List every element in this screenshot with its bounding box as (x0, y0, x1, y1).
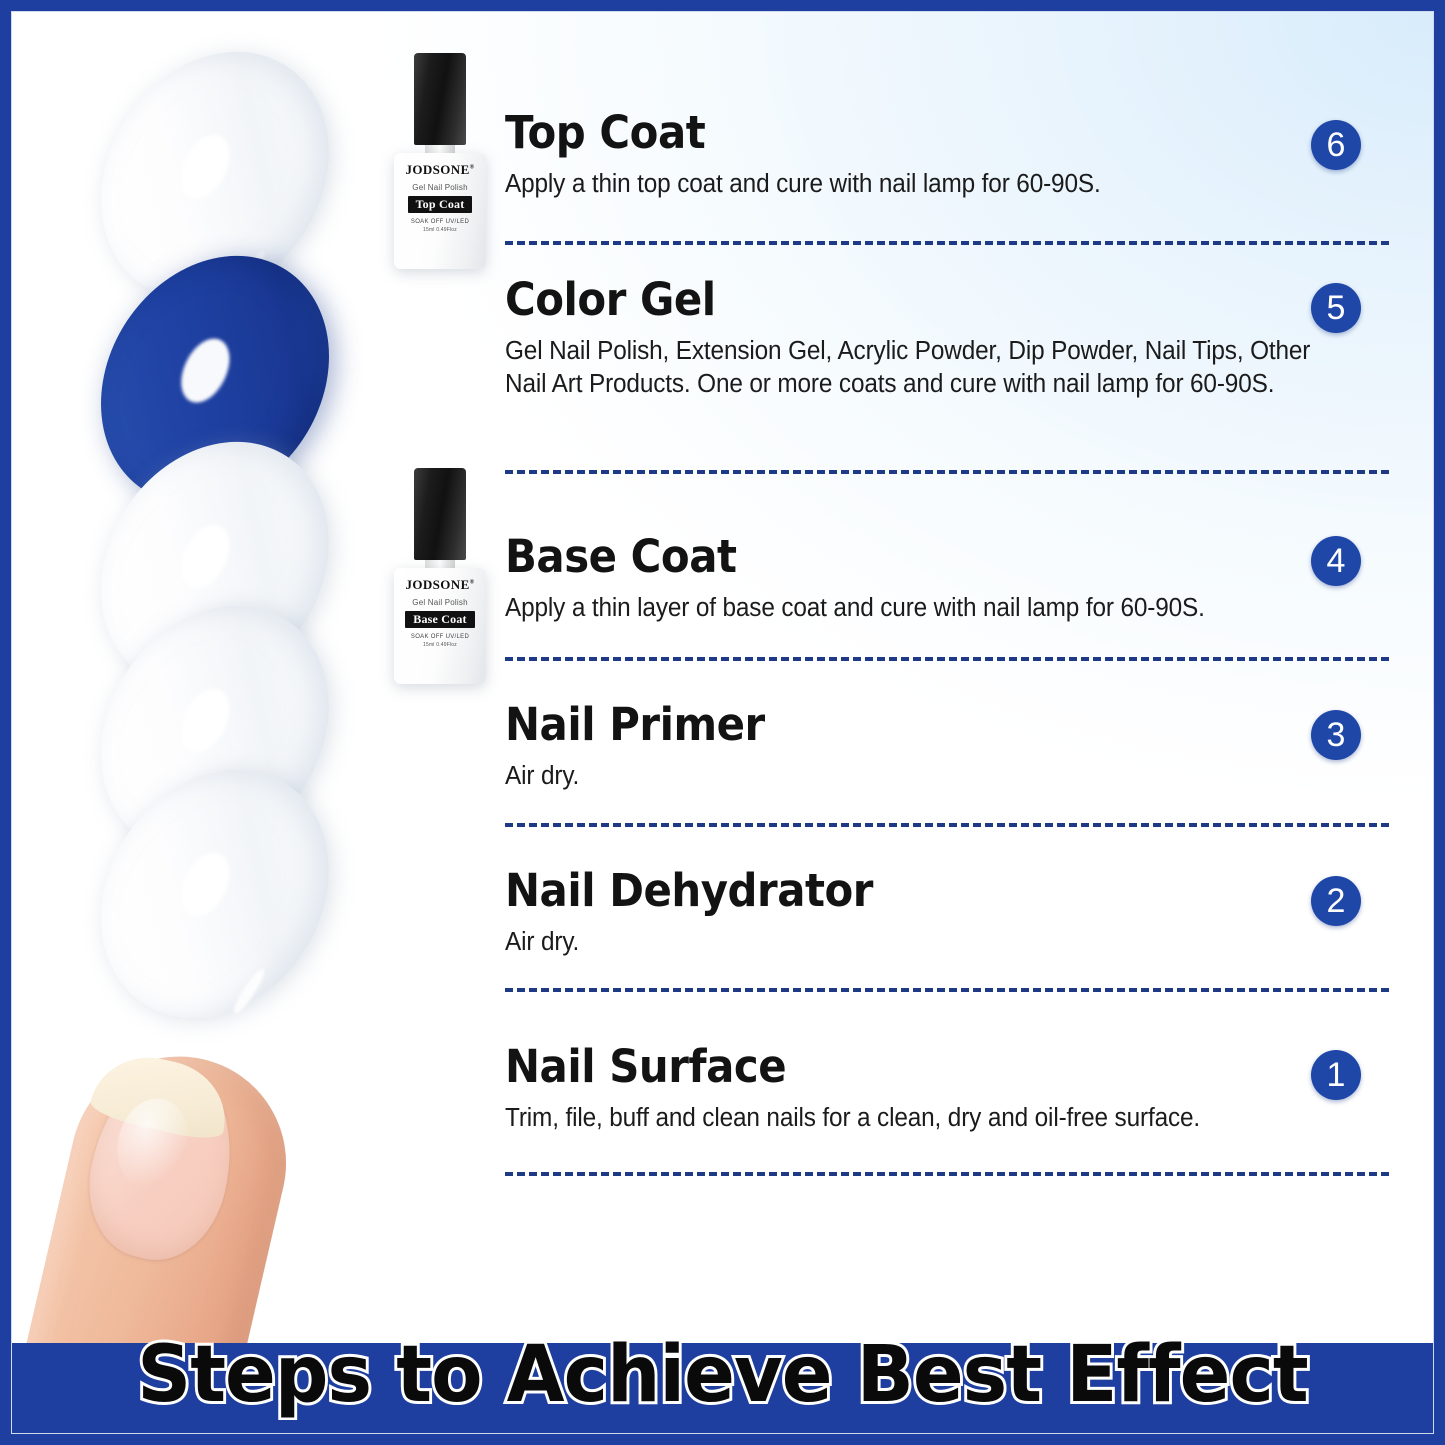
step-divider (505, 988, 1389, 992)
step-badge-1: 1 (1311, 1050, 1361, 1100)
nail-highlight (172, 517, 240, 597)
step-badge-3: 3 (1311, 710, 1361, 760)
step-divider (505, 823, 1389, 827)
bottle-neck (425, 145, 455, 153)
poster-title: Steps to Achieve Best Effect (40, 1315, 1404, 1434)
step-description: Apply a thin layer of base coat and cure… (505, 592, 1355, 625)
nail-highlight (172, 845, 240, 925)
step-item-color-gel: Color Gel Gel Nail Polish, Extension Gel… (505, 277, 1395, 401)
bottle-subtitle: Gel Nail Polish (394, 183, 486, 192)
step-badge-6: 6 (1311, 120, 1361, 170)
step-title: Nail Dehydrator (505, 868, 1333, 913)
step-title: Top Coat (505, 110, 1333, 155)
step-description: Trim, file, buff and clean nails for a c… (505, 1102, 1355, 1135)
step-title: Nail Surface (505, 1044, 1333, 1089)
bottle-volume: 15ml 0.49Floz (394, 642, 486, 648)
step-title: Color Gel (505, 277, 1333, 322)
nail-highlight-edge (230, 966, 267, 1016)
step-item-nail-surface: Nail Surface Trim, file, buff and clean … (505, 1044, 1395, 1135)
step-divider (505, 470, 1389, 474)
nail-highlight (172, 331, 240, 411)
step-divider (505, 241, 1389, 245)
step-item-base-coat: Base Coat Apply a thin layer of base coa… (505, 534, 1395, 625)
bottle-volume: 15ml 0.49Floz (394, 227, 486, 233)
bottle-product-name: Top Coat (408, 196, 473, 213)
bottle-brand-text: JODSONE (405, 577, 469, 592)
step-divider (505, 657, 1389, 661)
bottle-brand: JODSONE® (394, 162, 486, 178)
poster-frame: JODSONE® Gel Nail Polish Top Coat SOAK O… (0, 0, 1445, 1445)
step-description: Air dry. (505, 760, 1355, 793)
bottle-top-coat: JODSONE® Gel Nail Polish Top Coat SOAK O… (394, 53, 486, 269)
step-badge-2: 2 (1311, 876, 1361, 926)
bottle-cure-line: SOAK OFF UV/LED (394, 219, 486, 225)
bottle-cure-line: SOAK OFF UV/LED (394, 634, 486, 640)
step-description: Apply a thin top coat and cure with nail… (505, 168, 1355, 201)
bottle-subtitle: Gel Nail Polish (394, 598, 486, 607)
nail-highlight (172, 681, 240, 761)
bottle-base-coat: JODSONE® Gel Nail Polish Base Coat SOAK … (394, 468, 486, 684)
step-divider (505, 1172, 1389, 1176)
step-title: Nail Primer (505, 702, 1333, 747)
step-description: Gel Nail Polish, Extension Gel, Acrylic … (505, 335, 1355, 401)
step-title: Base Coat (505, 534, 1333, 579)
step-badge-4: 4 (1311, 536, 1361, 586)
step-description: Air dry. (505, 926, 1355, 959)
registered-mark-icon: ® (470, 580, 475, 586)
step-item-nail-dehydrator: Nail Dehydrator Air dry. (505, 868, 1395, 959)
bottle-brand: JODSONE® (394, 577, 486, 593)
bottle-label: JODSONE® Gel Nail Polish Top Coat SOAK O… (394, 153, 486, 269)
bottle-label: JODSONE® Gel Nail Polish Base Coat SOAK … (394, 568, 486, 684)
step-badge-5: 5 (1311, 283, 1361, 333)
bottle-cap (414, 53, 466, 145)
bottle-neck (425, 560, 455, 568)
step-item-top-coat: Top Coat Apply a thin top coat and cure … (505, 110, 1395, 201)
nail-highlight (172, 127, 240, 207)
bottle-product-name: Base Coat (405, 611, 474, 628)
registered-mark-icon: ® (470, 165, 475, 171)
poster-canvas: JODSONE® Gel Nail Polish Top Coat SOAK O… (11, 11, 1434, 1434)
step-item-nail-primer: Nail Primer Air dry. (505, 702, 1395, 793)
bottle-cap (414, 468, 466, 560)
bottle-brand-text: JODSONE (405, 162, 469, 177)
